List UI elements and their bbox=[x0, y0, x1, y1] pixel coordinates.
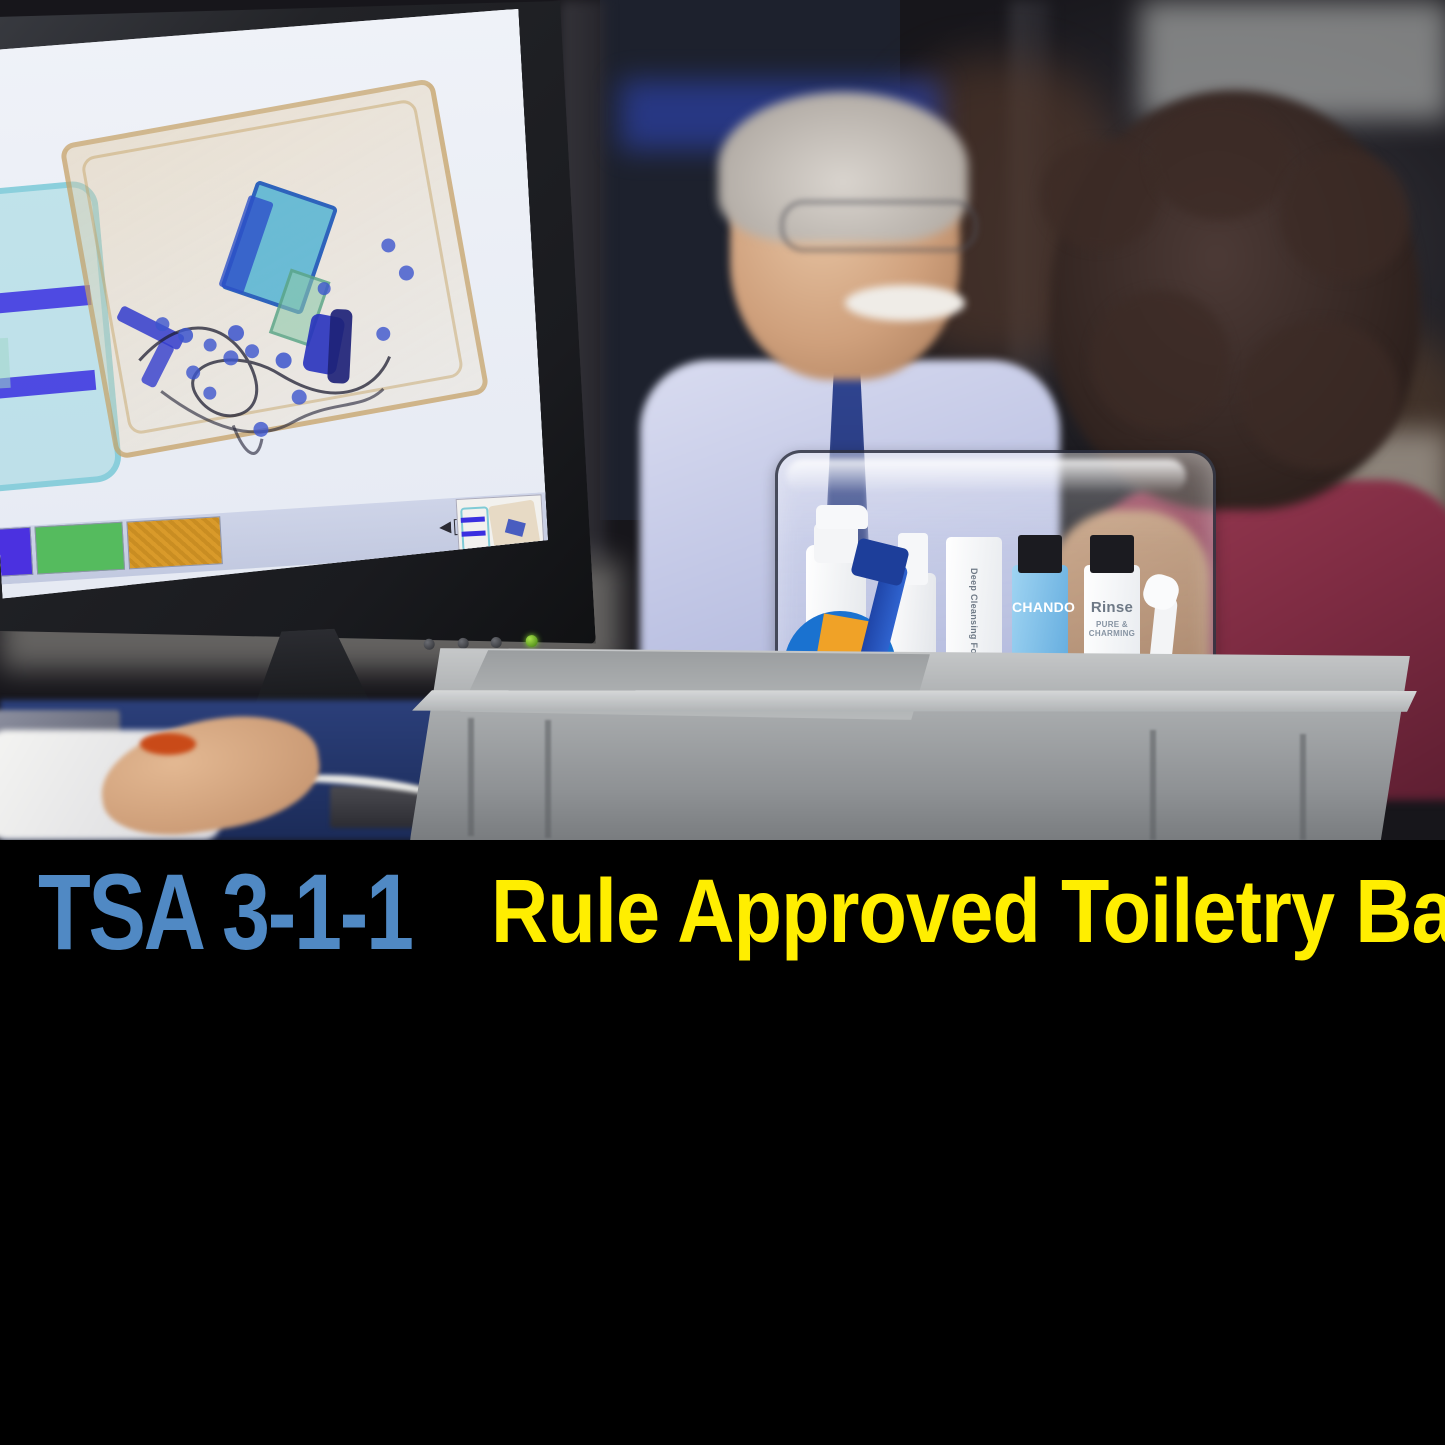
pump-bottle-collar bbox=[814, 523, 858, 563]
monitor-minus-button[interactable] bbox=[457, 638, 469, 650]
hair-curl bbox=[1090, 290, 1230, 430]
hair-curl bbox=[1240, 320, 1400, 470]
monitor-power-led[interactable] bbox=[525, 635, 538, 648]
man-moustache bbox=[845, 285, 965, 321]
chando-cap bbox=[1018, 535, 1062, 573]
info-panel: TSA 3-1-1 Rule Approved Toiletry Bag 3 3… bbox=[0, 840, 1445, 1445]
headline-tsa-311: TSA 3-1-1 bbox=[38, 858, 412, 966]
monitor-menu-button[interactable] bbox=[423, 638, 435, 650]
headline-rule-approved: Rule Approved Toiletry Bag bbox=[491, 867, 1445, 957]
cleansing-foam-label: Deep Cleansing Foam bbox=[969, 568, 979, 624]
man-glasses bbox=[780, 200, 978, 252]
toolbar-swatch-orange[interactable] bbox=[126, 516, 223, 569]
monitor-plus-button[interactable] bbox=[490, 637, 502, 649]
pump-head bbox=[816, 505, 868, 529]
toolbar-swatch-purple[interactable] bbox=[0, 527, 33, 577]
bin-rib bbox=[468, 718, 474, 836]
rinse-cap bbox=[1090, 535, 1134, 573]
headline: TSA 3-1-1 Rule Approved Toiletry Bag bbox=[0, 858, 1445, 966]
toolbar-swatch-green[interactable] bbox=[35, 522, 126, 575]
bin-rib bbox=[1150, 730, 1156, 840]
hair-curl bbox=[1150, 100, 1290, 220]
xray-scanner-monitor bbox=[0, 0, 597, 697]
checkpoint-photo: Deep Cleansing Foam CHANDO Rinse PURE & … bbox=[0, 0, 1445, 840]
bag-highlight bbox=[786, 459, 1186, 493]
toolbar-prev-icon[interactable] bbox=[439, 521, 452, 534]
hair-curl bbox=[1040, 140, 1160, 250]
operator-ring bbox=[140, 733, 196, 755]
rinse-sublabel: PURE & CHARMING bbox=[1084, 620, 1140, 638]
monitor-screen bbox=[0, 9, 550, 599]
bin-rib bbox=[1300, 734, 1306, 840]
chando-label: CHANDO bbox=[1012, 599, 1068, 615]
rinse-label: Rinse bbox=[1084, 599, 1140, 616]
poster-root: Deep Cleansing Foam CHANDO Rinse PURE & … bbox=[0, 0, 1445, 1445]
bin-rib bbox=[545, 720, 551, 838]
thumbnail-bin-outline bbox=[460, 506, 490, 551]
hair-curl bbox=[1280, 150, 1410, 280]
security-bin-rim bbox=[412, 690, 1417, 712]
